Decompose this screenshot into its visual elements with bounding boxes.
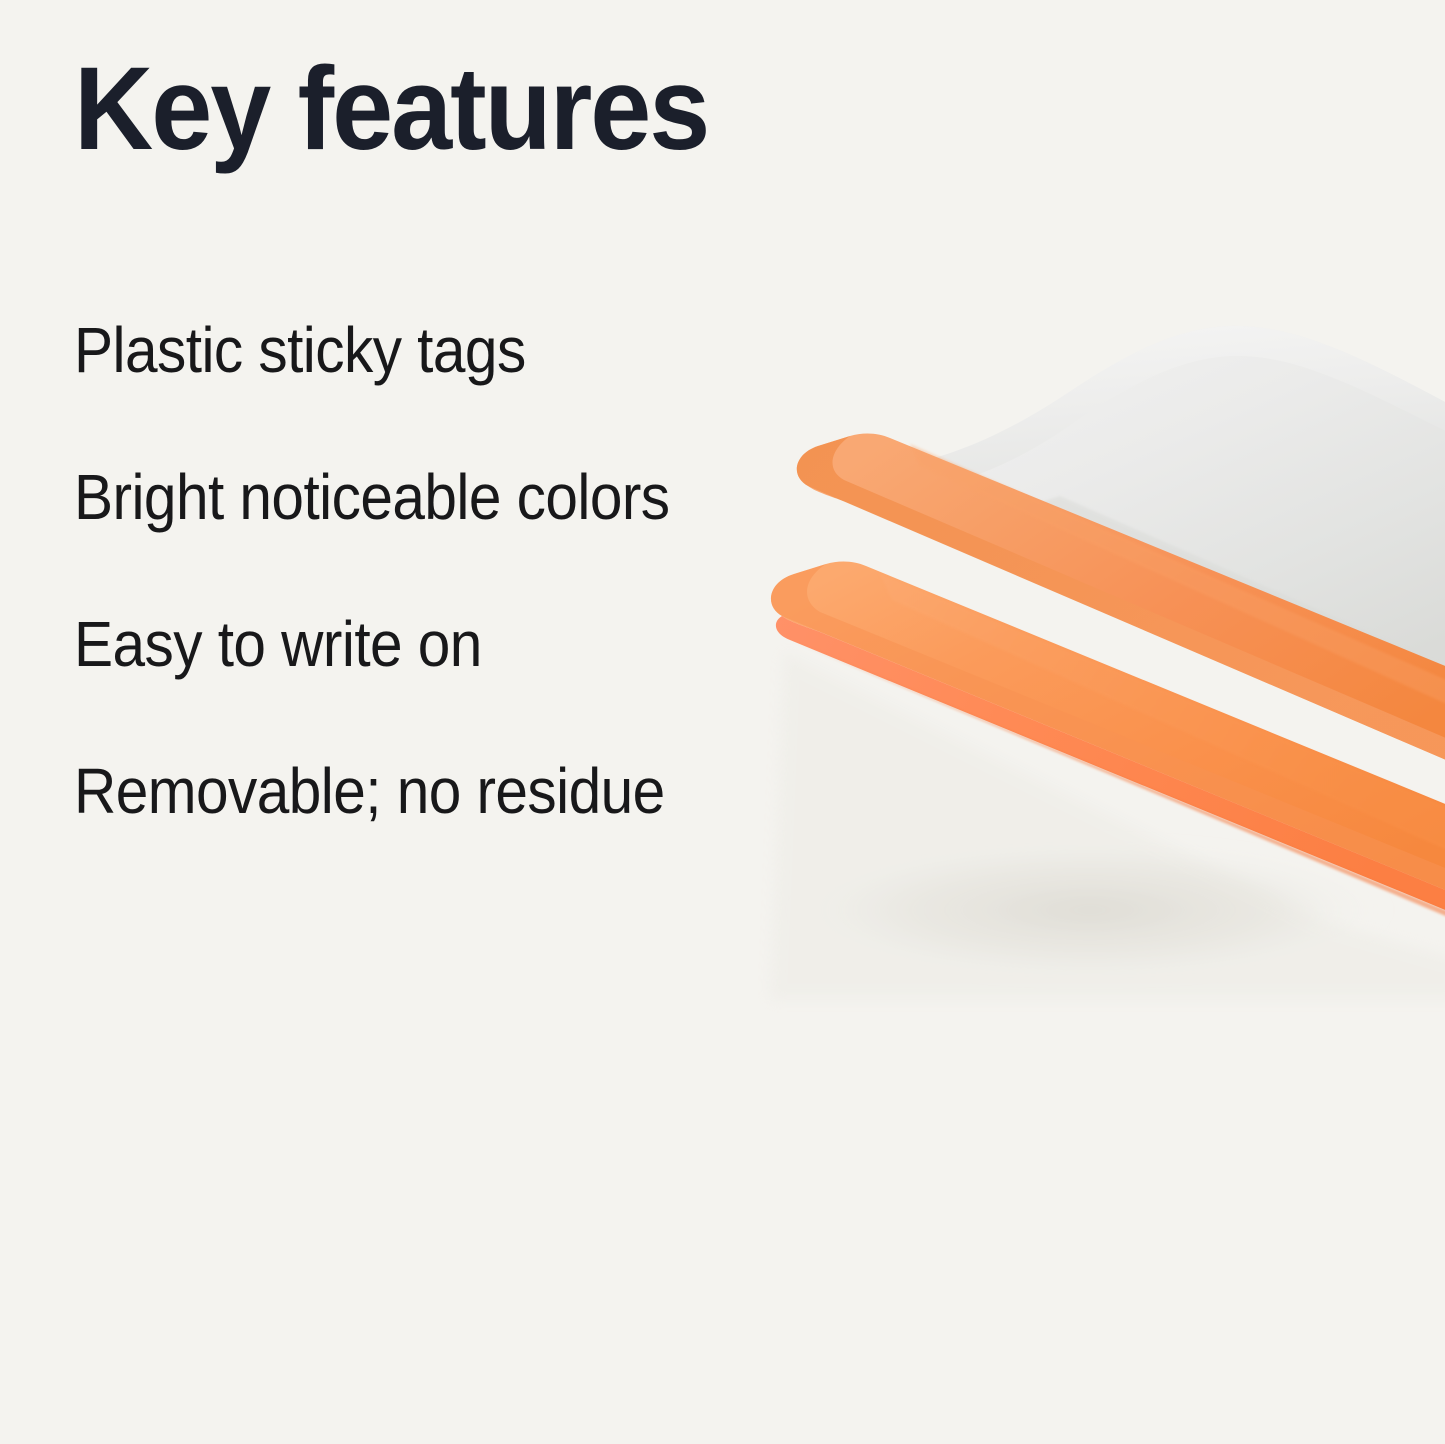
page-title: Key features bbox=[74, 48, 708, 171]
product-feature-card: Key features Plastic sticky tags Bright … bbox=[0, 0, 1445, 1444]
feature-item-2: Bright noticeable colors bbox=[74, 465, 715, 539]
text-column: Key features Plastic sticky tags Bright … bbox=[0, 0, 800, 1444]
feature-item-1: Plastic sticky tags bbox=[74, 318, 715, 392]
feature-item-3: Easy to write on bbox=[74, 612, 715, 686]
feature-list: Plastic sticky tags Bright noticeable co… bbox=[74, 318, 774, 833]
product-image bbox=[760, 300, 1445, 1000]
feature-item-4: Removable; no residue bbox=[74, 759, 715, 833]
